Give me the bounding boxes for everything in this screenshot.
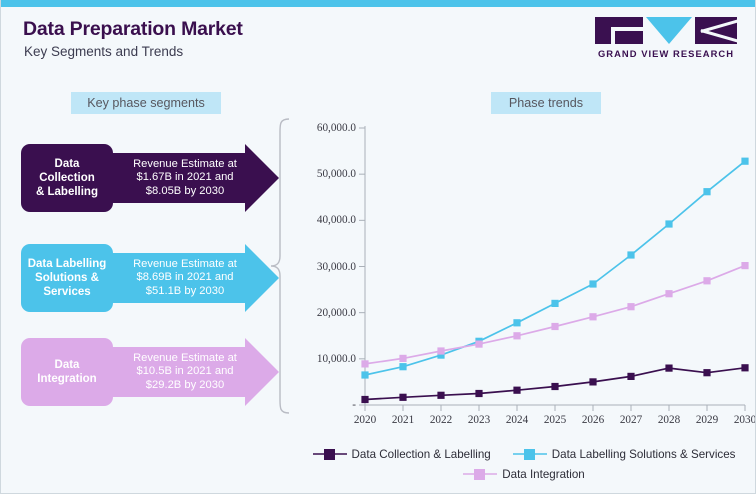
page-subtitle: Key Segments and Trends: [24, 44, 183, 59]
y-axis-tick-label: -: [294, 399, 356, 411]
legend-label: Data Labelling Solutions & Services: [552, 448, 736, 461]
y-axis-tick-label: 60,000.0: [294, 122, 356, 134]
legend-label: Data Collection & Labelling: [352, 448, 491, 461]
segment-estimate-text: Revenue Estimate at$1.67B in 2021 and$8.…: [110, 158, 260, 199]
page-title: Data Preparation Market: [23, 18, 243, 41]
legend-marker-icon: [513, 448, 547, 460]
legend-label: Data Integration: [502, 468, 585, 481]
y-axis-tick-label: 40,000.0: [294, 214, 356, 226]
logo-mark: [595, 17, 737, 44]
logo-letter-g-icon: [595, 17, 643, 44]
x-axis-tick-label: 2025: [535, 414, 575, 426]
chart-legend: Data Collection & Labelling Data Labelli…: [301, 444, 747, 484]
logo-letter-r-icon: [695, 17, 737, 44]
x-axis-tick-label: 2022: [421, 414, 461, 426]
grouping-brace-icon: [269, 118, 291, 414]
legend-item-data-collection-labelling[interactable]: Data Collection & Labelling: [313, 448, 491, 461]
y-axis-tick-label: 20,000.0: [294, 307, 356, 319]
legend-row-1: Data Collection & Labelling Data Labelli…: [301, 444, 747, 464]
line-chart: -10,000.020,000.030,000.040,000.050,000.…: [297, 118, 749, 418]
legend-item-data-integration[interactable]: Data Integration: [463, 468, 585, 481]
x-axis-tick-label: 2024: [497, 414, 537, 426]
y-axis-tick-label: 30,000.0: [294, 261, 356, 273]
legend-row-2: Data Integration: [301, 464, 747, 484]
x-axis-tick-label: 2030: [725, 414, 756, 426]
segment-arrow-body: Revenue Estimate at$10.5B in 2021 and$29…: [109, 338, 295, 406]
grand-view-research-logo: GRAND VIEW RESEARCH: [595, 17, 737, 61]
legend-marker-icon: [313, 448, 347, 460]
x-axis-tick-label: 2029: [687, 414, 727, 426]
chart-plot-area: [297, 118, 749, 418]
segment-estimate-text: Revenue Estimate at$10.5B in 2021 and$29…: [110, 352, 260, 393]
legend-item-data-labelling-solutions-services[interactable]: Data Labelling Solutions & Services: [513, 448, 736, 461]
x-axis-tick-label: 2026: [573, 414, 613, 426]
badge-key-phase-segments: Key phase segments: [71, 92, 221, 114]
x-axis-tick-label: 2028: [649, 414, 689, 426]
y-axis-tick-label: 50,000.0: [294, 168, 356, 180]
segment-arrow-body: Revenue Estimate at$1.67B in 2021 and$8.…: [109, 144, 295, 212]
segment-estimate-text: Revenue Estimate at$8.69B in 2021 and$51…: [110, 258, 260, 299]
infographic-page: Data Preparation Market Key Segments and…: [0, 0, 756, 494]
segment-label-box: Data LabellingSolutions &Services: [21, 244, 113, 312]
y-axis-tick-label: 10,000.0: [294, 353, 356, 365]
logo-letter-v-icon: [646, 17, 692, 44]
x-axis-tick-label: 2021: [383, 414, 423, 426]
logo-wordmark: GRAND VIEW RESEARCH: [595, 48, 737, 59]
segment-label-box: DataCollection& Labelling: [21, 144, 113, 212]
segment-arrow-body: Revenue Estimate at$8.69B in 2021 and$51…: [109, 244, 295, 312]
x-axis-tick-label: 2027: [611, 414, 651, 426]
x-axis-tick-label: 2023: [459, 414, 499, 426]
top-accent-bar: [1, 0, 756, 7]
segment-label-box: DataIntegration: [21, 338, 113, 406]
badge-phase-trends: Phase trends: [491, 92, 601, 114]
x-axis-tick-label: 2020: [345, 414, 385, 426]
legend-marker-icon: [463, 468, 497, 480]
